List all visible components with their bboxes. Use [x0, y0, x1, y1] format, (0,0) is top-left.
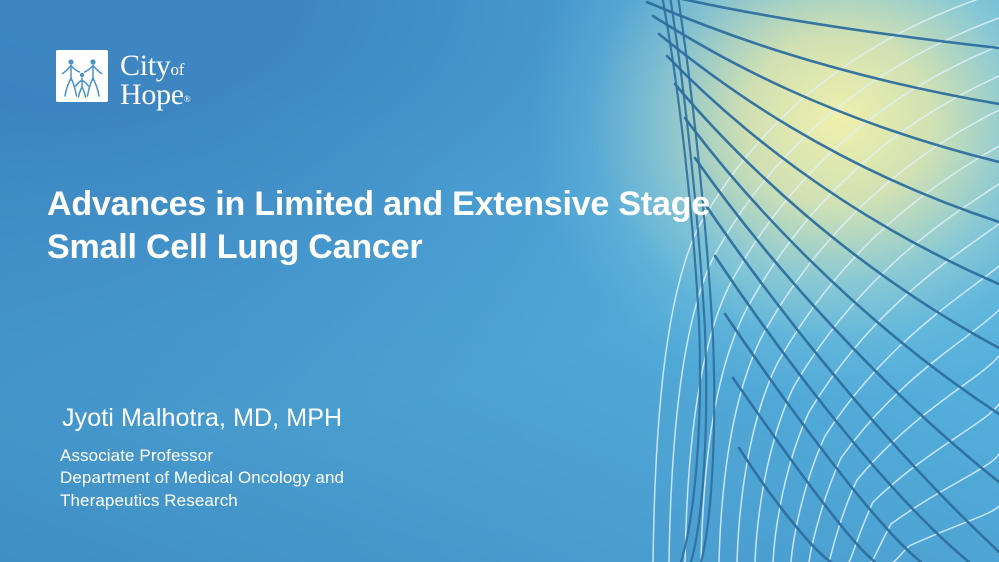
- slide-title: Advances in Limited and Extensive Stage …: [47, 183, 807, 269]
- brand-wordmark: Cityof Hope®: [120, 50, 191, 110]
- presenter-name: Jyoti Malhotra, MD, MPH: [62, 404, 342, 433]
- title-slide: Cityof Hope® Advances in Limited and Ext…: [0, 0, 999, 562]
- presenter-affiliation: Associate Professor Department of Medica…: [60, 445, 344, 512]
- brand-name-of: of: [170, 60, 184, 79]
- brand-name-city: City: [120, 49, 170, 82]
- brand-name-hope: Hope: [120, 78, 184, 111]
- affiliation-line-3: Therapeutics Research: [60, 490, 344, 512]
- city-of-hope-figures-logo-icon: [56, 50, 108, 102]
- brand-logo: Cityof Hope®: [56, 50, 191, 110]
- slide-title-line-1: Advances in Limited and Extensive Stage: [47, 183, 807, 226]
- affiliation-line-2: Department of Medical Oncology and: [60, 467, 344, 489]
- ruled-surface-decoration: [639, 0, 999, 562]
- registered-trademark-icon: ®: [184, 94, 191, 104]
- slide-title-line-2: Small Cell Lung Cancer: [47, 226, 807, 269]
- affiliation-line-1: Associate Professor: [60, 445, 344, 467]
